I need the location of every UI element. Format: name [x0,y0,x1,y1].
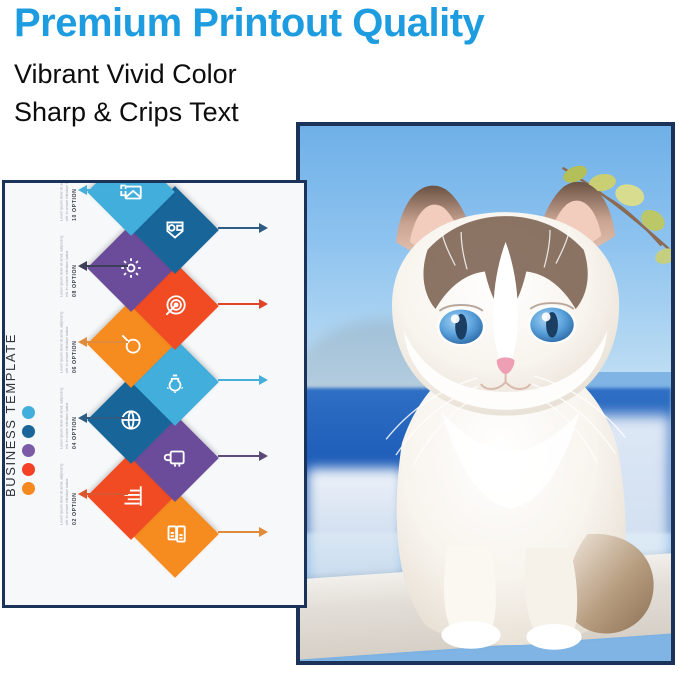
step-label-6: 06 OPTION Lorem ipsum dolor sit amet, ad… [2,311,78,373]
step-arrow-7 [218,303,260,305]
step-arrow-8 [86,265,128,267]
diamond-chain [82,217,212,565]
envelope-icon [100,180,162,223]
subtitle-vibrant-color: Vibrant Vivid Color [14,60,237,88]
infographic-printout: BUSINESS TEMPLATE [2,180,307,608]
step-label-2-text: Lorem ipsum dolor sit amet, adipiscing e… [60,463,70,525]
product-listing-image: Premium Printout Quality Vibrant Vivid C… [0,0,679,673]
step-arrow-9 [218,227,260,229]
step-label-1: 01 OPTION Lorem ipsum dolor sit amet, ad… [262,501,307,563]
step-label-4-number: 04 OPTION [72,417,78,450]
step-label-8: 08 OPTION Lorem ipsum dolor sit amet, ad… [2,235,78,297]
step-label-4: 04 OPTION Lorem ipsum dolor sit amet, ad… [2,387,78,449]
subtitle-sharp-text: Sharp & Crips Text [14,98,239,126]
step-arrow-10 [86,189,128,191]
step-label-9: 09 OPTION Lorem ipsum dolor sit amet, ad… [262,197,307,259]
step-label-2: 02 OPTION Lorem ipsum dolor sit amet, ad… [2,463,78,525]
step-arrow-6 [86,341,128,343]
step-label-5: 05 OPTION Lorem ipsum dolor sit amet, ad… [262,349,307,411]
ragdoll-cat-illustration [330,147,671,661]
step-label-2-number: 02 OPTION [72,493,78,526]
step-label-3: 03 OPTION Lorem ipsum dolor sit amet, ad… [262,425,307,487]
step-label-10: 10 OPTION Lorem ipsum dolor sit amet, ad… [2,180,78,221]
step-label-4-text: Lorem ipsum dolor sit amet, adipiscing e… [60,387,70,449]
step-arrow-2 [86,493,128,495]
step-label-7: 07 OPTION Lorem ipsum dolor sit amet, ad… [262,273,307,335]
step-arrow-4 [86,417,128,419]
cat-photo [296,122,675,665]
step-arrow-3 [218,455,260,457]
step-label-6-text: Lorem ipsum dolor sit amet, adipiscing e… [60,311,70,373]
page-title: Premium Printout Quality [14,2,654,44]
step-label-10-number: 10 OPTION [72,189,78,222]
step-label-8-number: 08 OPTION [72,265,78,298]
cat-photo-canvas [300,126,671,661]
step-arrow-5 [218,379,260,381]
step-label-6-number: 06 OPTION [72,341,78,374]
step-label-10-text: Lorem ipsum dolor sit amet, adipiscing e… [60,180,70,221]
step-arrow-1 [218,531,260,533]
infographic-content: BUSINESS TEMPLATE [5,183,304,605]
step-label-8-text: Lorem ipsum dolor sit amet, adipiscing e… [60,235,70,297]
